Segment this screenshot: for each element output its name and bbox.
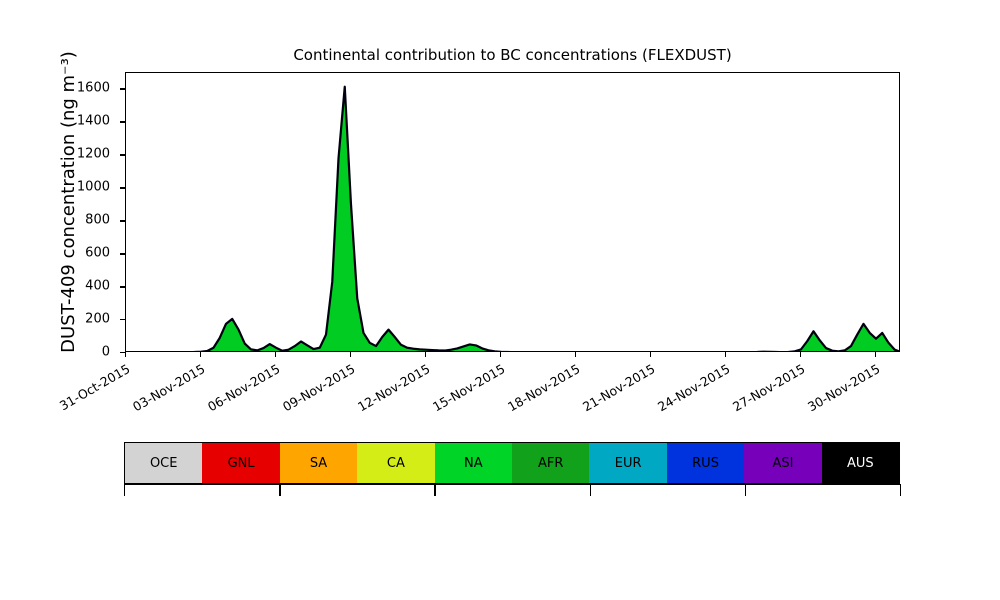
area-series-na bbox=[126, 87, 900, 352]
colorbar-segment-na[interactable]: NA bbox=[435, 443, 512, 483]
x-tick-mark bbox=[650, 352, 651, 357]
plot-area bbox=[125, 72, 900, 352]
colorbar-segment-label: AFR bbox=[538, 456, 563, 471]
total-concentration-outline bbox=[126, 87, 900, 352]
y-tick-label: 400 bbox=[0, 279, 119, 294]
colorbar-segment-label: NA bbox=[464, 456, 483, 471]
x-tick-mark bbox=[125, 352, 126, 357]
colorbar-segment-aus[interactable]: AUS bbox=[822, 443, 899, 483]
colorbar-tick bbox=[590, 484, 591, 496]
x-tick-mark bbox=[425, 352, 426, 357]
x-tick-mark bbox=[350, 352, 351, 357]
colorbar-segment-label: CA bbox=[387, 456, 405, 471]
colorbar-segment-sa[interactable]: SA bbox=[280, 443, 357, 483]
colorbar-segment-eur[interactable]: EUR bbox=[589, 443, 666, 483]
colorbar-tick bbox=[434, 484, 435, 496]
y-tick-label: 1200 bbox=[0, 147, 119, 162]
colorbar-segment-label: OCE bbox=[150, 456, 178, 471]
y-tick-label: 800 bbox=[0, 213, 119, 228]
y-tick-label: 600 bbox=[0, 246, 119, 261]
y-tick-label: 1400 bbox=[0, 114, 119, 129]
colorbar-axis-line bbox=[124, 484, 900, 485]
x-tick-mark bbox=[200, 352, 201, 357]
y-tick-label: 1000 bbox=[0, 180, 119, 195]
colorbar-segment-label: GNL bbox=[228, 456, 255, 471]
x-tick-mark bbox=[275, 352, 276, 357]
series-plot bbox=[126, 73, 900, 352]
colorbar-segment-label: AUS bbox=[847, 456, 874, 471]
colorbar-segment-rus[interactable]: RUS bbox=[667, 443, 744, 483]
y-tick-label: 0 bbox=[0, 345, 119, 360]
colorbar-segment-label: ASI bbox=[772, 456, 793, 471]
x-tick-mark bbox=[575, 352, 576, 357]
colorbar-segment-gnl[interactable]: GNL bbox=[202, 443, 279, 483]
chart-title: Continental contribution to BC concentra… bbox=[125, 46, 900, 64]
colorbar-tick bbox=[745, 484, 746, 496]
x-tick-mark bbox=[500, 352, 501, 357]
colorbar-segment-label: RUS bbox=[692, 456, 719, 471]
y-tick-label: 1600 bbox=[0, 81, 119, 96]
continent-colorbar-legend[interactable]: OCEGNLSACANAAFREURRUSASIAUS bbox=[124, 442, 900, 484]
x-tick-mark bbox=[875, 352, 876, 357]
colorbar-segment-oce[interactable]: OCE bbox=[125, 443, 202, 483]
colorbar-tick bbox=[124, 484, 125, 496]
colorbar-tick bbox=[900, 484, 901, 496]
colorbar-tick bbox=[279, 484, 280, 496]
colorbar-segment-afr[interactable]: AFR bbox=[512, 443, 589, 483]
figure-canvas: Continental contribution to BC concentra… bbox=[0, 0, 1000, 600]
colorbar-segment-label: EUR bbox=[615, 456, 642, 471]
y-tick-label: 200 bbox=[0, 312, 119, 327]
x-tick-mark bbox=[725, 352, 726, 357]
colorbar-segment-label: SA bbox=[310, 456, 327, 471]
colorbar-segment-asi[interactable]: ASI bbox=[744, 443, 821, 483]
x-tick-mark bbox=[800, 352, 801, 357]
colorbar-segment-ca[interactable]: CA bbox=[357, 443, 434, 483]
